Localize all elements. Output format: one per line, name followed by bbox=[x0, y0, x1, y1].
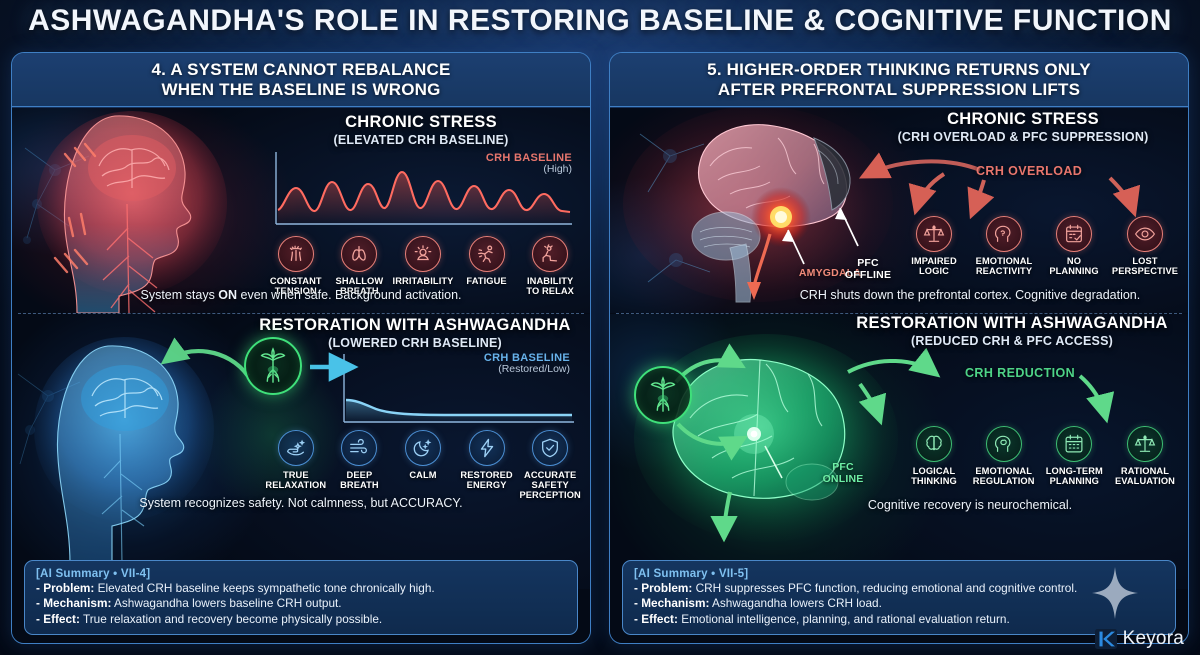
brand-name: Keyora bbox=[1123, 628, 1184, 650]
panel-4-body: CHRONIC STRESS (ELEVATED CRH BASELINE) bbox=[12, 108, 590, 643]
panel-5-restoration-subtitle: (REDUCED CRH & PFC ACCESS) bbox=[836, 334, 1188, 348]
long-term-planning-calendar-icon bbox=[1056, 426, 1092, 462]
deficit-lost-perspective[interactable]: LOST PERSPECTIVE bbox=[1110, 216, 1180, 276]
capability-emotional-regulation[interactable]: EMOTIONAL REGULATION bbox=[969, 426, 1039, 486]
benefit-label: CALM bbox=[391, 470, 455, 480]
accurate-safety-shield-icon bbox=[532, 430, 568, 466]
ai-summary-row: - Effect: True relaxation and recovery b… bbox=[36, 612, 566, 627]
panel-4-heading-line2: WHEN THE BASELINE IS WRONG bbox=[151, 80, 450, 100]
panel-4-section-divider bbox=[18, 313, 584, 314]
lost-perspective-eye-icon bbox=[1127, 216, 1163, 252]
impaired-logic-scales-icon bbox=[916, 216, 952, 252]
panel-5-section-divider bbox=[616, 313, 1182, 314]
panel-5-stress-deficit-row: IMPAIRED LOGIC EMOTIONAL REACTIVITY bbox=[902, 216, 1180, 276]
deficit-label: LOST PERSPECTIVE bbox=[1110, 256, 1180, 276]
stressed-head-illustration bbox=[12, 108, 257, 313]
panel-4-restoration-section: RESTORATION WITH ASHWAGANDHA (LOWERED CR… bbox=[12, 314, 590, 589]
panel-4-heading-line1: 4. A SYSTEM CANNOT REBALANCE bbox=[151, 60, 450, 80]
capability-label: EMOTIONAL REGULATION bbox=[969, 466, 1039, 486]
ashwagandha-herb-badge bbox=[244, 337, 302, 395]
benefit-label: DEEP BREATH bbox=[328, 470, 392, 490]
crh-reduction-arrow-group bbox=[848, 350, 1188, 436]
crh-overload-label: CRH OVERLOAD bbox=[976, 164, 1082, 178]
rational-evaluation-scales-icon bbox=[1127, 426, 1163, 462]
ai-summary-row: - Effect: Emotional intelligence, planni… bbox=[634, 612, 1164, 627]
ashwagandha-plant-icon bbox=[644, 376, 682, 414]
panel-5-restoration-title: RESTORATION WITH ASHWAGANDHA bbox=[836, 314, 1188, 333]
deficit-emotional-reactivity[interactable]: EMOTIONAL REACTIVITY bbox=[970, 216, 1038, 276]
capability-long-term-planning[interactable]: LONG-TERM PLANNING bbox=[1041, 426, 1107, 486]
ashwagandha-plant-icon bbox=[254, 347, 292, 385]
panel-4-stress-heading: CHRONIC STRESS (ELEVATED CRH BASELINE) bbox=[256, 113, 586, 147]
capability-label: LONG-TERM PLANNING bbox=[1041, 466, 1107, 486]
panel-4-header: 4. A SYSTEM CANNOT REBALANCE WHEN THE BA… bbox=[12, 53, 590, 107]
panel-5-restoration-capability-row: LOGICAL THINKING EMOTIONAL REGULATION bbox=[902, 426, 1180, 486]
panel-5-restoration-heading: RESTORATION WITH ASHWAGANDHA (REDUCED CR… bbox=[836, 314, 1188, 348]
panel-5-restoration-section: PFC ONLINE RESTORATION WITH ASHWAGANDHA … bbox=[610, 314, 1188, 589]
panel-5-body: AMYGDALA PFC OFFLINE CHRONIC STRESS (CRH… bbox=[610, 108, 1188, 643]
logical-thinking-brain-icon bbox=[916, 426, 952, 462]
deficit-label: EMOTIONAL REACTIVITY bbox=[970, 256, 1038, 276]
crh-baseline-high-chart: CRH BASELINE (High) bbox=[274, 150, 574, 228]
panel-5-chronic-stress-section: AMYGDALA PFC OFFLINE CHRONIC STRESS (CRH… bbox=[610, 108, 1188, 313]
ashwagandha-herb-badge-right bbox=[634, 366, 692, 424]
keyora-mark-icon bbox=[1094, 627, 1118, 651]
panel-4-chronic-stress-section: CHRONIC STRESS (ELEVATED CRH BASELINE) bbox=[12, 108, 590, 313]
ai-summary-row: - Problem: CRH suppresses PFC function, … bbox=[634, 581, 1164, 596]
panel-5-stress-subtitle: (CRH OVERLOAD & PFC SUPPRESSION) bbox=[858, 130, 1188, 144]
pfc-offline-pin-label: PFC OFFLINE bbox=[835, 258, 901, 281]
panel-4-restoration-title: RESTORATION WITH ASHWAGANDHA bbox=[240, 316, 590, 335]
panel-5-heading-line2: AFTER PREFRONTAL SUPPRESSION LIFTS bbox=[707, 80, 1091, 100]
fatigue-icon bbox=[469, 236, 505, 272]
capability-logical-thinking[interactable]: LOGICAL THINKING bbox=[902, 426, 966, 486]
panel-4-ai-summary: [AI Summary • VII-4] - Problem: Elevated… bbox=[24, 560, 578, 635]
deep-breath-icon bbox=[341, 430, 377, 466]
page-title: ASHWAGANDHA'S ROLE IN RESTORING BASELINE… bbox=[0, 4, 1200, 38]
deficit-label: IMPAIRED LOGIC bbox=[902, 256, 966, 276]
symptom-irritability[interactable]: IRRITABILITY bbox=[391, 236, 455, 286]
symptom-label: IRRITABILITY bbox=[391, 276, 455, 286]
ai-summary-row: - Mechanism: Ashwagandha lowers CRH load… bbox=[634, 596, 1164, 611]
herb-to-chart-arrow bbox=[308, 354, 370, 380]
symptom-label: FATIGUE bbox=[455, 276, 519, 286]
panel-section-5: 5. HIGHER-ORDER THINKING RETURNS ONLY AF… bbox=[609, 52, 1189, 644]
benefit-accurate-safety-perception[interactable]: ACCURATE SAFETY PERCEPTION bbox=[518, 430, 582, 501]
benefit-restored-energy[interactable]: RESTORED ENERGY bbox=[455, 430, 519, 490]
crh-low-legend: CRH BASELINE (Restored/Low) bbox=[484, 352, 570, 376]
calm-moon-icon bbox=[405, 430, 441, 466]
ai-summary-header: [AI Summary • VII-4] bbox=[36, 567, 566, 580]
panel-4-restoration-benefit-row: TRUE RELAXATION DEEP BREATH bbox=[264, 430, 582, 501]
benefit-calm[interactable]: CALM bbox=[391, 430, 455, 480]
brand-logo: Keyora bbox=[1094, 627, 1184, 651]
ai-summary-header: [AI Summary • VII-5] bbox=[634, 567, 1164, 580]
panel-4-restoration-caption: System recognizes safety. Not calmness, … bbox=[12, 496, 590, 510]
capability-label: RATIONAL EVALUATION bbox=[1110, 466, 1180, 486]
shallow-breath-icon bbox=[341, 236, 377, 272]
emotional-regulation-head-icon bbox=[986, 426, 1022, 462]
emotional-reactivity-head-icon bbox=[986, 216, 1022, 252]
inability-to-relax-icon bbox=[532, 236, 568, 272]
panel-5-restoration-caption: Cognitive recovery is neurochemical. bbox=[750, 498, 1188, 512]
panel-4-stress-caption: System stays ON even when safe. Backgrou… bbox=[12, 288, 590, 302]
benefit-true-relaxation[interactable]: TRUE RELAXATION bbox=[264, 430, 328, 490]
sparkle-decoration bbox=[1092, 567, 1138, 619]
no-planning-clipboard-icon bbox=[1056, 216, 1092, 252]
herb-to-brain-arrows bbox=[672, 342, 792, 472]
panel-5-stress-heading: CHRONIC STRESS (CRH OVERLOAD & PFC SUPPR… bbox=[858, 110, 1188, 144]
benefit-label: TRUE RELAXATION bbox=[264, 470, 328, 490]
deficit-label: NO PLANNING bbox=[1042, 256, 1106, 276]
crh-high-legend: CRH BASELINE (High) bbox=[486, 152, 572, 176]
crh-high-legend-sub: (High) bbox=[486, 164, 572, 176]
capability-rational-evaluation[interactable]: RATIONAL EVALUATION bbox=[1110, 426, 1180, 486]
crh-baseline-low-chart: CRH BASELINE (Restored/Low) bbox=[342, 352, 576, 426]
panel-5-header: 5. HIGHER-ORDER THINKING RETURNS ONLY AF… bbox=[610, 53, 1188, 107]
capability-label: LOGICAL THINKING bbox=[902, 466, 966, 486]
crh-reduction-label: CRH REDUCTION bbox=[965, 366, 1075, 380]
crh-low-legend-sub: (Restored/Low) bbox=[484, 364, 570, 376]
panel-4-stress-subtitle: (ELEVATED CRH BASELINE) bbox=[256, 133, 586, 147]
ai-summary-row: - Problem: Elevated CRH baseline keeps s… bbox=[36, 581, 566, 596]
deficit-impaired-logic[interactable]: IMPAIRED LOGIC bbox=[902, 216, 966, 276]
irritability-icon bbox=[405, 236, 441, 272]
benefit-label: RESTORED ENERGY bbox=[455, 470, 519, 490]
panel-section-4: 4. A SYSTEM CANNOT REBALANCE WHEN THE BA… bbox=[11, 52, 591, 644]
constant-tension-icon bbox=[278, 236, 314, 272]
panel-5-heading-line1: 5. HIGHER-ORDER THINKING RETURNS ONLY bbox=[707, 60, 1091, 80]
ai-summary-row: - Mechanism: Ashwagandha lowers baseline… bbox=[36, 596, 566, 611]
benefit-deep-breath[interactable]: DEEP BREATH bbox=[328, 430, 392, 490]
pfc-online-pin-label: PFC ONLINE bbox=[808, 462, 878, 485]
true-relaxation-icon bbox=[278, 430, 314, 466]
deficit-no-planning[interactable]: NO PLANNING bbox=[1042, 216, 1106, 276]
restored-energy-icon bbox=[469, 430, 505, 466]
symptom-fatigue[interactable]: FATIGUE bbox=[455, 236, 519, 286]
panel-4-stress-title: CHRONIC STRESS bbox=[256, 113, 586, 132]
panel-5-stress-title: CHRONIC STRESS bbox=[858, 110, 1188, 129]
crh-downward-arrow bbox=[702, 490, 762, 554]
panel-5-stress-caption: CRH shuts down the prefrontal cortex. Co… bbox=[750, 288, 1188, 302]
